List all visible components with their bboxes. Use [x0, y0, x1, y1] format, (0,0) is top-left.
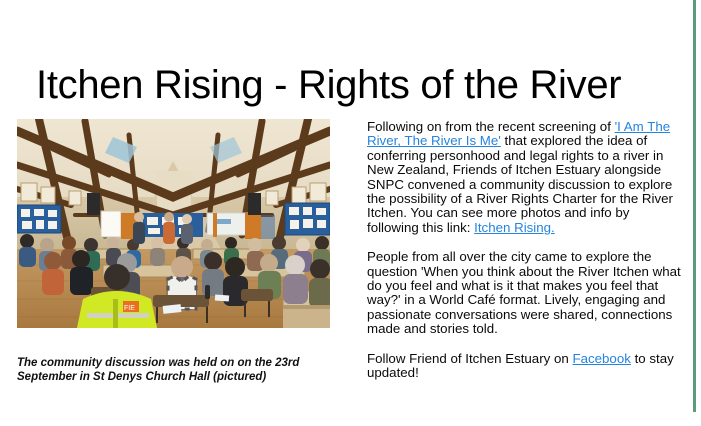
page-title: Itchen Rising - Rights of the River	[36, 59, 656, 111]
paragraph-3-text-part-1: Follow Friend of Itchen Estuary on	[367, 351, 572, 366]
svg-text:FIE: FIE	[124, 305, 135, 312]
article-paragraph-2: People from all over the city came to ex…	[367, 250, 682, 336]
article-text-column: Following on from the recent screening o…	[367, 120, 682, 381]
link-facebook[interactable]: Facebook	[572, 351, 630, 366]
photo-illustration: FIE	[17, 119, 330, 328]
link-itchen-rising[interactable]: Itchen Rising.	[474, 220, 555, 235]
media-column: FIE The community discussion was held on…	[17, 119, 330, 384]
photo-caption: The community discussion was held on on …	[17, 357, 317, 384]
right-edge-accent-rule	[693, 0, 696, 412]
community-discussion-photo: FIE	[17, 119, 330, 328]
paragraph-1-text-part-1: Following on from the recent screening o…	[367, 119, 615, 134]
article-paragraph-3: Follow Friend of Itchen Estuary on Faceb…	[367, 352, 682, 381]
article-paragraph-1: Following on from the recent screening o…	[367, 120, 682, 235]
